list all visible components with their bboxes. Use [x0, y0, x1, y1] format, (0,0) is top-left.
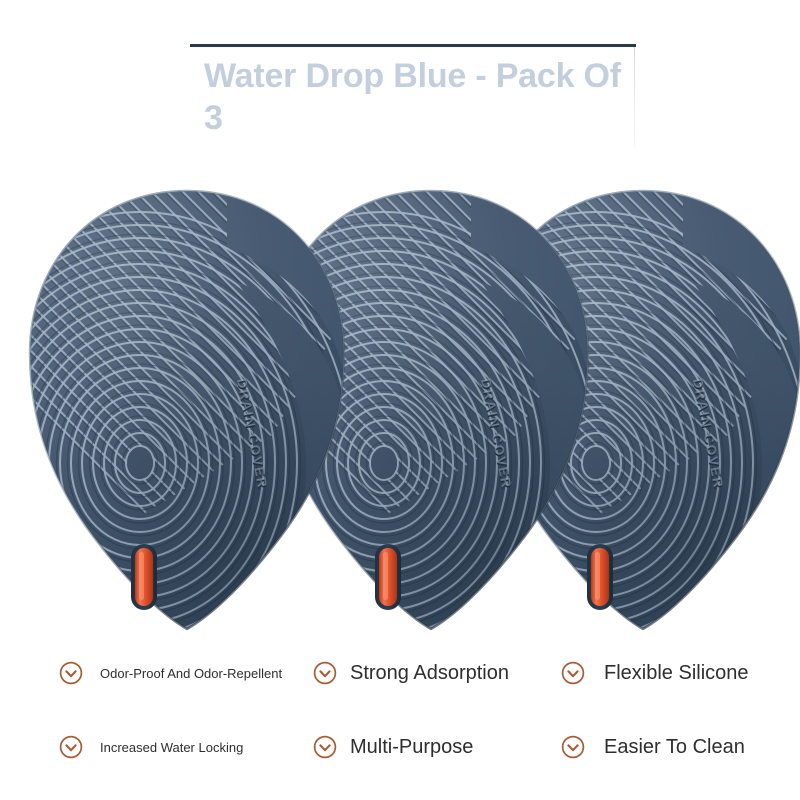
front-drain-cover: DRAIN COVER DRAIN COVER: [22, 185, 352, 635]
feature-label: Increased Water Locking: [100, 740, 243, 755]
check-circle-icon: [312, 734, 338, 760]
title-divider-rule: [190, 44, 636, 47]
pull-tab[interactable]: [375, 544, 401, 610]
check-circle-icon: [560, 734, 586, 760]
title-box-edge: [634, 47, 635, 147]
title-block: Water Drop Blue - Pack Of 3: [190, 44, 638, 154]
page-title: Water Drop Blue - Pack Of 3: [204, 56, 624, 140]
feature-list: Odor-Proof And Odor-Repellent Increased …: [0, 648, 800, 788]
product-image-page: Water Drop Blue - Pack Of 3: [0, 0, 800, 800]
feature-label: Easier To Clean: [604, 736, 745, 759]
feature-item: Increased Water Locking: [58, 734, 243, 760]
check-circle-icon: [560, 660, 586, 686]
feature-item: Easier To Clean: [560, 734, 745, 760]
feature-item: Multi-Purpose: [312, 734, 473, 760]
product-stage: DRAIN COVER DRAIN COVER DRAIN COVER DRAI…: [0, 185, 800, 645]
check-circle-icon: [58, 660, 84, 686]
feature-label: Odor-Proof And Odor-Repellent: [100, 666, 282, 681]
pull-tab[interactable]: [131, 544, 157, 610]
check-circle-icon: [312, 660, 338, 686]
feature-label: Strong Adsorption: [350, 662, 509, 685]
feature-label: Flexible Silicone: [604, 662, 749, 685]
feature-item: Odor-Proof And Odor-Repellent: [58, 660, 282, 686]
feature-label: Multi-Purpose: [350, 736, 473, 759]
feature-item: Strong Adsorption: [312, 660, 509, 686]
check-circle-icon: [58, 734, 84, 760]
feature-item: Flexible Silicone: [560, 660, 749, 686]
